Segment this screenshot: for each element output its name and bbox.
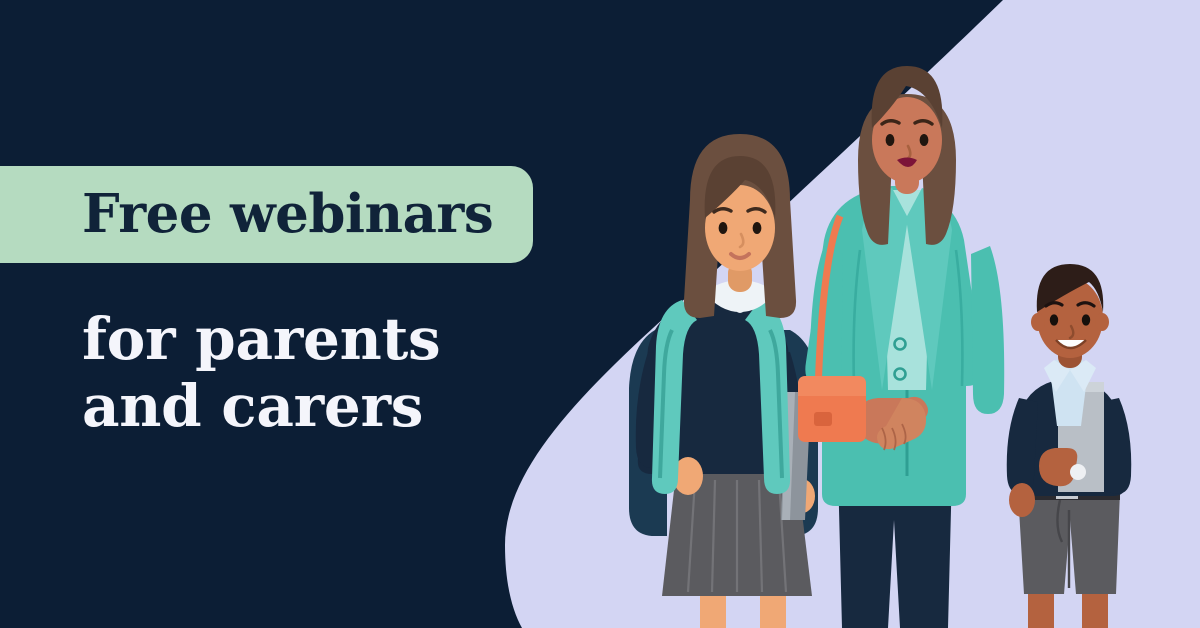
eyebrow-badge: Free webinars [0,166,533,263]
page-title: for parents and carers [82,306,440,441]
eyebrow-label: Free webinars [82,188,493,241]
banner-root: Free webinars for parents and carers [0,0,1200,628]
